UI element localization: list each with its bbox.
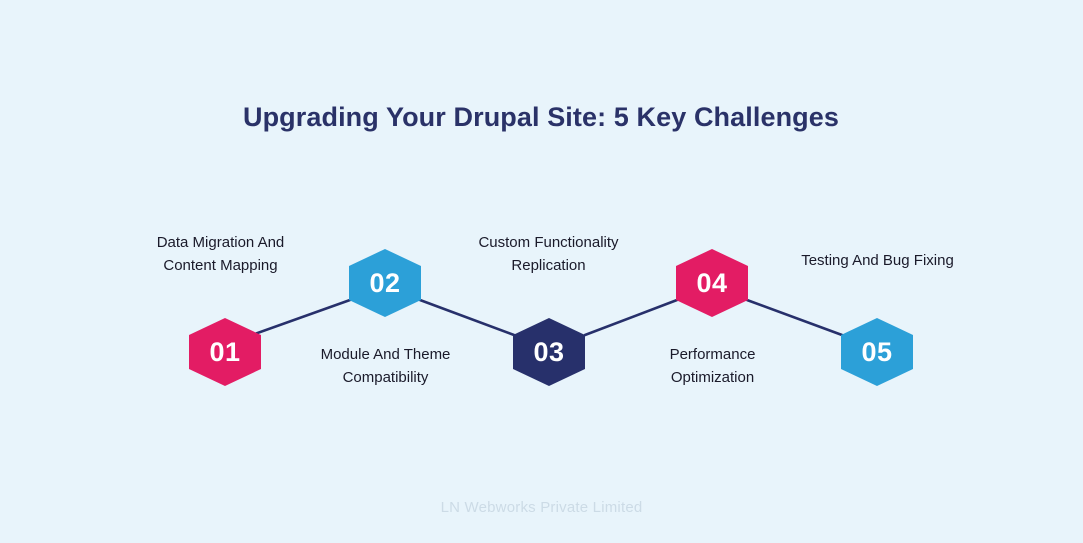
step-number-03: 03 [513, 318, 585, 386]
step-node-04[interactable]: 04 [676, 249, 748, 317]
step-node-05[interactable]: 05 [841, 318, 913, 386]
step-node-01[interactable]: 01 [189, 318, 261, 386]
step-label-02: Module And Theme Compatibility [305, 343, 466, 389]
step-label-03: Custom Functionality Replication [468, 231, 629, 277]
step-number-04: 04 [676, 249, 748, 317]
step-number-01: 01 [189, 318, 261, 386]
step-number-05: 05 [841, 318, 913, 386]
step-node-02[interactable]: 02 [349, 249, 421, 317]
connector-01-02 [252, 300, 350, 335]
connector-04-05 [747, 300, 842, 335]
step-node-03[interactable]: 03 [513, 318, 585, 386]
footer-attribution: LN Webworks Private Limited [0, 499, 1083, 516]
infographic-canvas: Upgrading Your Drupal Site: 5 Key Challe… [0, 0, 1083, 543]
connector-03-04 [585, 300, 677, 335]
step-label-05: Testing And Bug Fixing [797, 249, 958, 272]
step-label-04: Performance Optimization [632, 343, 793, 389]
step-label-01: Data Migration And Content Mapping [140, 231, 301, 277]
step-number-02: 02 [349, 249, 421, 317]
connector-02-03 [420, 300, 514, 335]
